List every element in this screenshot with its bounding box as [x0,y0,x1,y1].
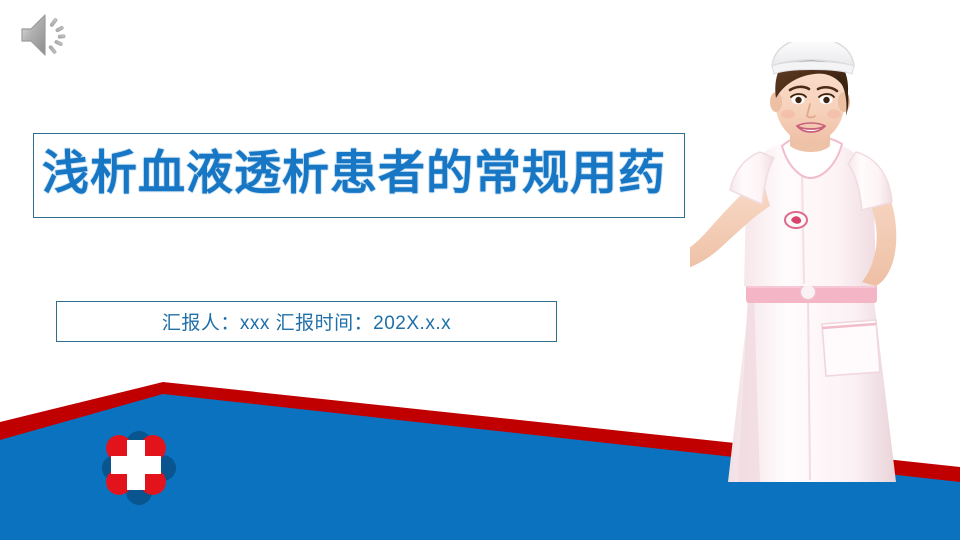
presenter-info: 汇报人：xxx 汇报时间：202X.x.x [56,301,557,342]
page-title: 浅析血液透析患者的常规用药 [42,144,702,203]
speaker-icon-glyph [18,10,78,62]
medical-cross-glyph [84,423,188,527]
nurse-illustration [690,42,960,540]
presentation-slide: 浅析血液透析患者的常规用药 汇报人：xxx 汇报时间：202X.x.x [0,0,960,540]
nurse-photo [690,42,960,540]
nurse-belt-button [801,285,816,300]
speaker-icon[interactable] [18,10,78,62]
medical-cross-badge [84,423,188,527]
